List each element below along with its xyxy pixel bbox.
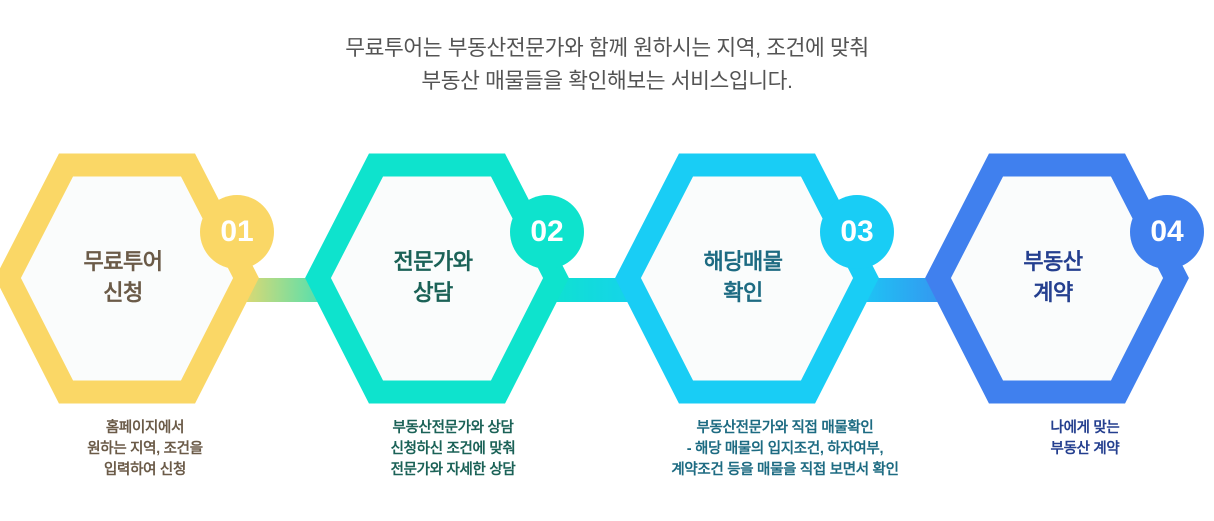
step-flow: 무료투어 신청 01 전문가와 상담 02 해당매물 확인 03 부동산 계약 … bbox=[0, 150, 1214, 410]
step-3-caption: 부동산전문가와 직접 매물확인 - 해당 매물의 입지조건, 하자여부, 계약조… bbox=[605, 418, 965, 481]
step-3-number-badge: 03 bbox=[820, 195, 894, 269]
step-2-number-badge: 02 bbox=[510, 195, 584, 269]
step-captions: 홈페이지에서 원하는 지역, 조건을 입력하여 신청 부동산전문가와 상담 신청… bbox=[0, 418, 1214, 518]
infographic-page: 무료투어는 부동산전문가와 함께 원하시는 지역, 조건에 맞춰 부동산 매물들… bbox=[0, 0, 1214, 521]
step-1[interactable]: 무료투어 신청 01 bbox=[0, 150, 260, 410]
step-3-number: 03 bbox=[840, 217, 873, 247]
step-4-number: 04 bbox=[1150, 217, 1183, 247]
header-line-1: 무료투어는 부동산전문가와 함께 원하시는 지역, 조건에 맞춰 bbox=[0, 32, 1214, 65]
header-line-2: 부동산 매물들을 확인해보는 서비스입니다. bbox=[0, 65, 1214, 98]
step-3[interactable]: 해당매물 확인 03 bbox=[620, 150, 880, 410]
step-2[interactable]: 전문가와 상담 02 bbox=[310, 150, 570, 410]
step-4-number-badge: 04 bbox=[1130, 195, 1204, 269]
step-1-number-badge: 01 bbox=[200, 195, 274, 269]
page-title: 무료투어는 부동산전문가와 함께 원하시는 지역, 조건에 맞춰 부동산 매물들… bbox=[0, 32, 1214, 98]
step-2-number: 02 bbox=[530, 217, 563, 247]
step-4[interactable]: 부동산 계약 04 bbox=[930, 150, 1190, 410]
step-4-caption: 나에게 맞는 부동산 계약 bbox=[940, 418, 1214, 460]
step-1-caption: 홈페이지에서 원하는 지역, 조건을 입력하여 신청 bbox=[0, 418, 290, 481]
step-2-caption: 부동산전문가와 상담 신청하신 조건에 맞춰 전문가와 자세한 상담 bbox=[308, 418, 598, 481]
step-1-number: 01 bbox=[220, 217, 253, 247]
